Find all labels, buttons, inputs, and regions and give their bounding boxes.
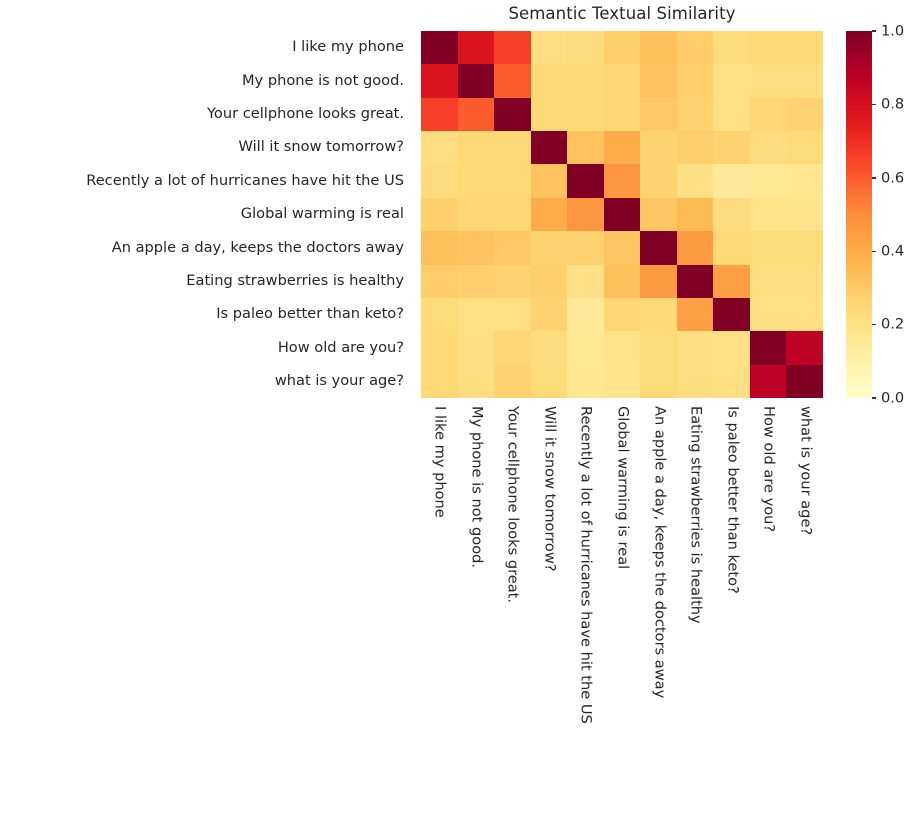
heatmap-cell	[677, 131, 714, 164]
colorbar-tick-mark	[872, 104, 876, 105]
heatmap-cell	[458, 365, 495, 398]
heatmap-cell	[567, 98, 604, 131]
heatmap-cell	[677, 164, 714, 197]
heatmap-figure: Semantic Textual Similarity I like my ph…	[0, 0, 915, 826]
heatmap-cell	[567, 365, 604, 398]
heatmap-cell	[750, 298, 787, 331]
heatmap-cell	[640, 298, 677, 331]
heatmap-cell	[640, 265, 677, 298]
colorbar-tick-text: 0.4	[881, 244, 904, 259]
heatmap-cell	[750, 331, 787, 364]
heatmap-cell	[494, 31, 531, 64]
x-axis-tick-label-slot: what is your age?	[786, 398, 823, 698]
heatmap-cell	[567, 131, 604, 164]
colorbar-tick-text: 0.8	[881, 98, 904, 113]
colorbar-tick-labels: 0.00.20.40.60.81.0	[846, 31, 910, 398]
heatmap-cell	[531, 131, 568, 164]
heatmap-cell	[604, 31, 641, 64]
heatmap-cell	[494, 298, 531, 331]
heatmap-cell	[604, 198, 641, 231]
heatmap-cell	[494, 265, 531, 298]
heatmap-cell	[567, 198, 604, 231]
heatmap-grid	[421, 31, 823, 398]
heatmap-cell	[567, 265, 604, 298]
heatmap-cell	[494, 64, 531, 97]
heatmap-cell	[786, 298, 823, 331]
heatmap-cell	[640, 131, 677, 164]
heatmap-cell	[604, 98, 641, 131]
y-axis-tick-label: I like my phone	[0, 31, 413, 64]
heatmap-cell	[713, 198, 750, 231]
heatmap-cell	[531, 265, 568, 298]
heatmap-cell	[640, 198, 677, 231]
x-axis-tick-label: My phone is not good.	[469, 406, 484, 568]
heatmap-cell	[567, 64, 604, 97]
heatmap-cell	[421, 298, 458, 331]
heatmap-cell	[604, 331, 641, 364]
heatmap-cell	[604, 265, 641, 298]
heatmap-cell	[494, 365, 531, 398]
heatmap-cell	[786, 31, 823, 64]
heatmap-cell	[750, 265, 787, 298]
x-axis-tick-labels: I like my phoneMy phone is not good.Your…	[421, 398, 823, 698]
heatmap-cell	[750, 365, 787, 398]
heatmap-cell	[567, 31, 604, 64]
heatmap-cell	[677, 331, 714, 364]
x-axis-tick-label-slot: Will it snow tomorrow?	[531, 398, 568, 698]
heatmap-cell	[458, 131, 495, 164]
heatmap-cell	[567, 298, 604, 331]
heatmap-cell	[786, 331, 823, 364]
heatmap-cell	[677, 98, 714, 131]
heatmap-cell	[458, 231, 495, 264]
heatmap-cell	[494, 164, 531, 197]
y-axis-tick-label: Your cellphone looks great.	[0, 98, 413, 131]
y-axis-tick-label: Global warming is real	[0, 198, 413, 231]
heatmap-cell	[677, 31, 714, 64]
colorbar-tick-mark	[872, 251, 876, 252]
heatmap-cell	[604, 365, 641, 398]
heatmap-cell	[750, 164, 787, 197]
heatmap-cell	[421, 131, 458, 164]
heatmap-cell	[786, 98, 823, 131]
x-axis-tick-label-slot: An apple a day, keeps the doctors away	[640, 398, 677, 698]
x-axis-tick-label-slot: Your cellphone looks great.	[494, 398, 531, 698]
heatmap-cell	[750, 231, 787, 264]
heatmap-cell	[786, 164, 823, 197]
heatmap-cell	[713, 331, 750, 364]
heatmap-cell	[531, 164, 568, 197]
x-axis-tick-label: Eating strawberries is healthy	[688, 406, 703, 624]
heatmap-cell	[640, 365, 677, 398]
heatmap-cell	[421, 31, 458, 64]
colorbar-tick-mark	[872, 397, 876, 398]
heatmap-cell	[750, 64, 787, 97]
y-axis-tick-label: Eating strawberries is healthy	[0, 265, 413, 298]
heatmap-cell	[494, 231, 531, 264]
heatmap-cell	[750, 131, 787, 164]
y-axis-tick-label: How old are you?	[0, 331, 413, 364]
heatmap-cell	[421, 198, 458, 231]
colorbar-tick-text: 0.0	[881, 391, 904, 406]
heatmap-cell	[713, 365, 750, 398]
page-title: Semantic Textual Similarity	[421, 4, 823, 23]
heatmap-cell	[567, 164, 604, 197]
heatmap-cell	[421, 265, 458, 298]
y-axis-tick-label: Recently a lot of hurricanes have hit th…	[0, 164, 413, 197]
heatmap-cell	[458, 98, 495, 131]
heatmap-cell	[421, 365, 458, 398]
heatmap-cell	[567, 231, 604, 264]
heatmap-cell	[750, 98, 787, 131]
heatmap-cell	[494, 98, 531, 131]
heatmap-cell	[458, 265, 495, 298]
heatmap-cell	[531, 331, 568, 364]
heatmap-cell	[640, 31, 677, 64]
colorbar-tick-mark	[872, 324, 876, 325]
heatmap-cell	[786, 231, 823, 264]
heatmap-cell	[750, 198, 787, 231]
heatmap-cell	[494, 331, 531, 364]
heatmap-cell	[786, 265, 823, 298]
x-axis-tick-label: Recently a lot of hurricanes have hit th…	[578, 406, 593, 724]
heatmap-cell	[567, 331, 604, 364]
x-axis-tick-label: Global warming is real	[615, 406, 630, 569]
colorbar-tick-mark	[872, 30, 876, 31]
x-axis-tick-label: Your cellphone looks great.	[505, 406, 520, 603]
heatmap-cell	[421, 64, 458, 97]
heatmap-cell	[786, 64, 823, 97]
heatmap-cell	[713, 31, 750, 64]
heatmap-cell	[713, 298, 750, 331]
heatmap-cell	[458, 64, 495, 97]
heatmap-cell	[713, 231, 750, 264]
y-axis-tick-label: An apple a day, keeps the doctors away	[0, 231, 413, 264]
y-axis-tick-label: what is your age?	[0, 365, 413, 398]
heatmap-cell	[786, 365, 823, 398]
heatmap-cell	[640, 98, 677, 131]
x-axis-tick-label: I like my phone	[432, 406, 447, 518]
x-axis-tick-label-slot: How old are you?	[750, 398, 787, 698]
x-axis-tick-label-slot: Recently a lot of hurricanes have hit th…	[567, 398, 604, 698]
heatmap-cell	[531, 231, 568, 264]
x-axis-tick-label-slot: Is paleo better than keto?	[713, 398, 750, 698]
heatmap-cell	[786, 131, 823, 164]
heatmap-cell	[494, 198, 531, 231]
x-axis-tick-label-slot: My phone is not good.	[458, 398, 495, 698]
heatmap-cell	[458, 331, 495, 364]
heatmap-cell	[640, 164, 677, 197]
y-axis-tick-labels: I like my phoneMy phone is not good.Your…	[0, 31, 413, 398]
heatmap-cell	[421, 231, 458, 264]
heatmap-cell	[458, 164, 495, 197]
x-axis-tick-label-slot: I like my phone	[421, 398, 458, 698]
heatmap-cell	[677, 365, 714, 398]
y-axis-tick-label: My phone is not good.	[0, 64, 413, 97]
x-axis-tick-label: Will it snow tomorrow?	[542, 406, 557, 572]
heatmap-cell	[531, 198, 568, 231]
heatmap-cell	[604, 64, 641, 97]
colorbar-tick-mark	[872, 177, 876, 178]
heatmap-cell	[713, 164, 750, 197]
colorbar-tick-text: 0.2	[881, 318, 904, 333]
heatmap-cell	[421, 98, 458, 131]
heatmap-cell	[750, 31, 787, 64]
heatmap-cell	[604, 298, 641, 331]
heatmap-cell	[713, 265, 750, 298]
heatmap-cell	[677, 64, 714, 97]
heatmap-cell	[531, 298, 568, 331]
heatmap-cell	[531, 98, 568, 131]
heatmap-cell	[604, 164, 641, 197]
colorbar-tick-text: 0.6	[881, 171, 904, 186]
heatmap-cell	[713, 131, 750, 164]
heatmap-cell	[531, 365, 568, 398]
colorbar-tick-text: 1.0	[881, 24, 904, 39]
heatmap-cell	[458, 298, 495, 331]
x-axis-tick-label: what is your age?	[797, 406, 812, 535]
heatmap-cell	[677, 231, 714, 264]
y-axis-tick-label: Will it snow tomorrow?	[0, 131, 413, 164]
heatmap-cell	[640, 64, 677, 97]
x-axis-tick-label-slot: Global warming is real	[604, 398, 641, 698]
heatmap-cell	[604, 231, 641, 264]
heatmap-cell	[677, 265, 714, 298]
heatmap-cell	[604, 131, 641, 164]
heatmap-cell	[640, 231, 677, 264]
heatmap-cell	[531, 64, 568, 97]
heatmap-cell	[677, 198, 714, 231]
heatmap-cell	[421, 164, 458, 197]
heatmap-cell	[640, 331, 677, 364]
heatmap-cell	[677, 298, 714, 331]
x-axis-tick-label: An apple a day, keeps the doctors away	[651, 406, 666, 698]
heatmap-cell	[713, 98, 750, 131]
heatmap-cell	[458, 31, 495, 64]
heatmap-cell	[531, 31, 568, 64]
heatmap-cell	[786, 198, 823, 231]
heatmap-cell	[421, 331, 458, 364]
x-axis-tick-label-slot: Eating strawberries is healthy	[677, 398, 714, 698]
x-axis-tick-label: Is paleo better than keto?	[724, 406, 739, 594]
heatmap-cell	[494, 131, 531, 164]
y-axis-tick-label: Is paleo better than keto?	[0, 298, 413, 331]
x-axis-tick-label: How old are you?	[761, 406, 776, 532]
heatmap-cell	[713, 64, 750, 97]
heatmap-cell	[458, 198, 495, 231]
